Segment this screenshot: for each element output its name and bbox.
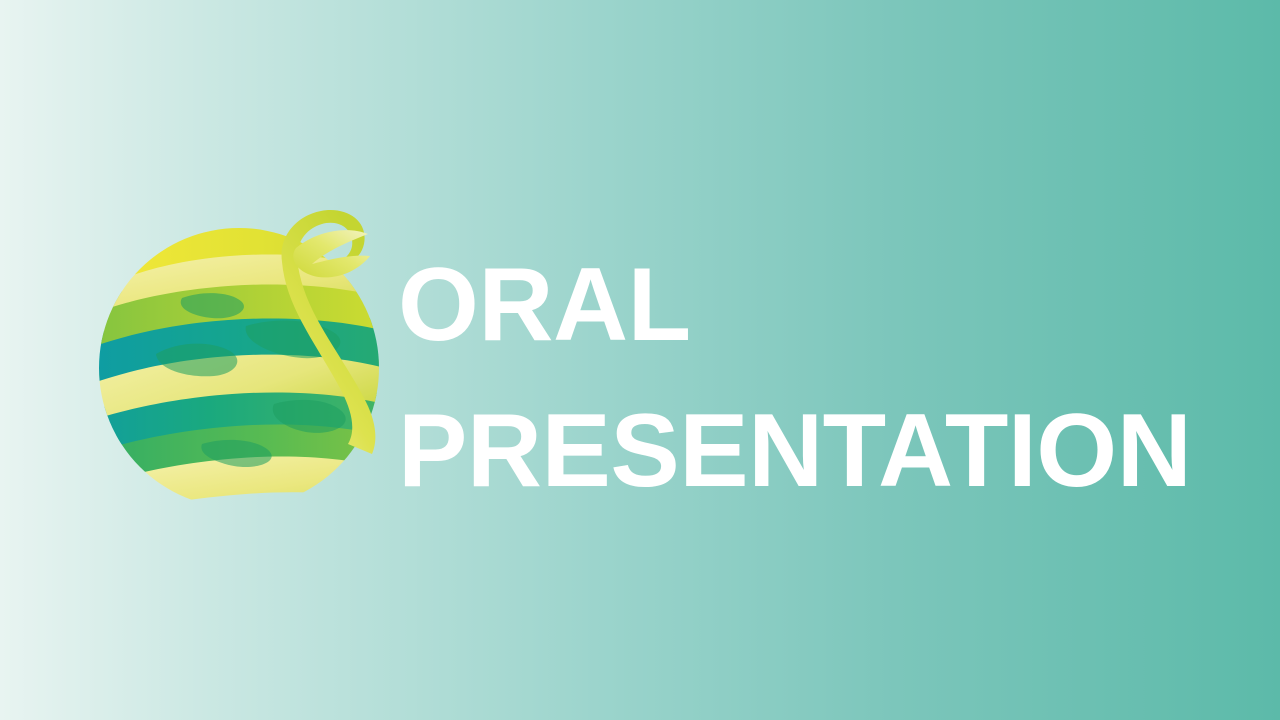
title-line-2: PRESENTATION bbox=[398, 378, 1218, 524]
slide-title: ORAL PRESENTATION bbox=[398, 232, 1218, 524]
slide-canvas: ORAL PRESENTATION bbox=[0, 0, 1280, 720]
globe-leaf-logo bbox=[96, 204, 382, 520]
title-line-1: ORAL bbox=[398, 232, 1218, 378]
